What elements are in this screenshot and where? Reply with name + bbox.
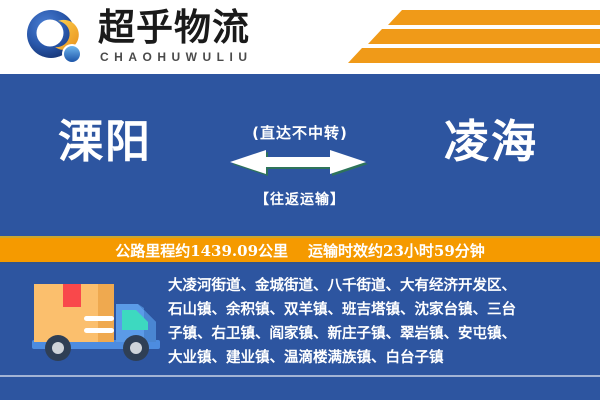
distance-label: 公路里程约1439.09公里 — [115, 240, 288, 261]
route-info-bar: 公路里程约1439.09公里 运输时效约23小时59分钟 — [0, 236, 600, 264]
delivery-truck-icon — [26, 278, 166, 370]
header-stripes-decoration — [340, 0, 600, 74]
stripe-3 — [348, 48, 600, 63]
destination-area-list: 大凌河街道、金城街道、八千街道、大有经济开发区、 石山镇、余积镇、双羊镇、班吉塔… — [168, 274, 592, 370]
roundtrip-note: 【往返运输】 — [0, 189, 600, 209]
destination-line: 大业镇、建业镇、温滴楼满族镇、白台子镇 — [168, 346, 592, 370]
duration-label: 运输时效约23小时59分钟 — [308, 240, 485, 261]
chaohu-q-logo-icon — [24, 9, 86, 67]
destination-line: 石山镇、余积镇、双羊镇、班吉塔镇、沈家台镇、三台 — [168, 298, 592, 322]
stripe-2 — [368, 29, 600, 44]
direct-shipping-note: (直达不中转) — [0, 122, 600, 143]
road-divider-line — [0, 375, 600, 377]
destination-line: 子镇、右卫镇、阎家镇、新庄子镇、翠岩镇、安屯镇、 — [168, 322, 592, 346]
route-section: 溧阳 凌海 (直达不中转) 【往返运输】 — [0, 74, 600, 234]
brand-name-en: CHAOHUWULIU — [100, 50, 253, 64]
logistics-route-banner: 超乎物流 CHAOHUWULIU 溧阳 凌海 (直达不中转) 【往返运输】 公路… — [0, 0, 600, 400]
destination-line: 大凌河街道、金城街道、八千街道、大有经济开发区、 — [168, 274, 592, 298]
stripe-1 — [388, 10, 600, 25]
coverage-section: 大凌河街道、金城街道、八千街道、大有经济开发区、 石山镇、余积镇、双羊镇、班吉塔… — [0, 266, 600, 400]
banner-header: 超乎物流 CHAOHUWULIU — [0, 0, 600, 74]
brand-name-cn: 超乎物流 — [98, 7, 250, 49]
bidirectional-arrow-icon — [230, 148, 370, 180]
